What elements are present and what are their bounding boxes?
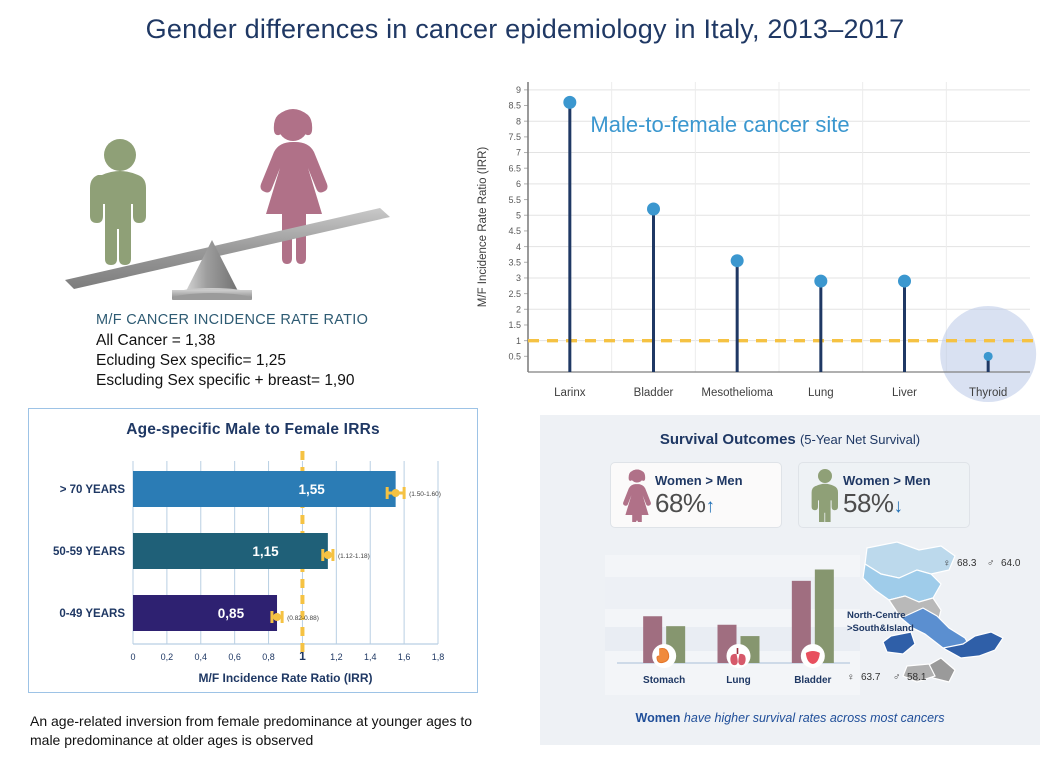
age-chart-x-axis-title: M/F Incidence Rate Ratio (IRR) — [198, 671, 372, 685]
map-region-label-line2: >South&Island — [847, 623, 914, 634]
lollipop-y-tick-label: 6 — [516, 179, 521, 189]
survival-card-women-text: Women > Men 68%↑ — [655, 474, 773, 516]
gender-seesaw-illustration — [60, 90, 410, 300]
infographic-root: Gender differences in cancer epidemiolog… — [0, 0, 1050, 770]
map-north-male-value: 64.0 — [1001, 558, 1021, 569]
lollipop-category-label: Mesothelioma — [701, 387, 773, 399]
survival-card-women[interactable]: Women > Men 68%↑ — [610, 462, 782, 528]
survival-card-women-value: 68% — [655, 488, 706, 518]
lollipop-y-tick-label: 8 — [516, 116, 521, 126]
incidence-stat-excl-sex-specific: Ecluding Sex specific= 1,25 — [96, 351, 486, 371]
incidence-stats-block: M/F CANCER INCIDENCE RATE RATIO All Canc… — [96, 312, 486, 391]
age-bar-ci-label: (1.50-1.60) — [409, 491, 441, 498]
map-north-female-value: 68.3 — [957, 558, 977, 569]
age-chart-x-tick-label: 1,2 — [330, 652, 343, 662]
lollipop-y-tick-label: 0.5 — [508, 352, 521, 362]
age-bar-value-label: 0,85 — [218, 606, 245, 621]
survival-card-women-label: Women > Men — [655, 474, 773, 487]
lollipop-y-tick-label: 6.5 — [508, 163, 521, 173]
lollipop-category-label: Lung — [808, 387, 834, 399]
age-bar-value-label: 1,55 — [298, 482, 325, 497]
italy-map: North-Centre>South&Island♀68.3♂64.0♀63.7… — [845, 540, 1030, 685]
lollipop-y-tick-label: 8.5 — [508, 101, 521, 111]
age-bar-value-label: 1,15 — [252, 544, 279, 559]
survival-card-men-text: Women > Men 58%↓ — [843, 474, 961, 516]
map-south-female-value: 63.7 — [861, 672, 881, 683]
age-bar[interactable] — [133, 471, 396, 507]
map-male-icon-north: ♂ — [987, 558, 995, 569]
age-chart-x-tick-label: 0,6 — [228, 652, 241, 662]
survival-title: Survival Outcomes (5-Year Net Survival) — [540, 431, 1040, 448]
age-bar[interactable] — [133, 533, 328, 569]
lollipop-point[interactable] — [563, 96, 576, 109]
survival-title-sub: (5-Year Net Survival) — [800, 432, 920, 447]
minibar-category-label: Stomach — [643, 675, 685, 686]
lollipop-point[interactable] — [731, 254, 744, 267]
survival-card-men-value: 58% — [843, 488, 894, 518]
age-chart-x-tick-label: 0,8 — [262, 652, 275, 662]
age-chart-x-tick-label: 1,8 — [432, 652, 445, 662]
age-inversion-note: An age-related inversion from female pre… — [30, 712, 500, 750]
lollipop-point[interactable] — [814, 275, 827, 288]
lollipop-point[interactable] — [898, 275, 911, 288]
survival-card-men-label: Women > Men — [843, 474, 961, 487]
lollipop-y-tick-label: 4 — [516, 242, 521, 252]
bladder-icon — [801, 644, 825, 668]
survival-card-men[interactable]: Women > Men 58%↓ — [798, 462, 970, 528]
age-bar-category-label: 50-59 YEARS — [53, 546, 125, 558]
lollipop-y-tick-label: 9 — [516, 85, 521, 95]
survival-footer-note: Women have higher survival rates across … — [540, 711, 1040, 725]
arrow-down-icon: ↓ — [894, 496, 904, 517]
survival-footer-bold: Women — [636, 711, 681, 725]
lollipop-y-axis-title: M/F Incidence Rate Ratio (IRR) — [477, 147, 489, 308]
lollipop-category-label: Bladder — [634, 387, 674, 399]
lungs-icon — [727, 644, 751, 668]
map-region-label-line1: North-Centre — [847, 610, 906, 621]
lollipop-category-label: Thyroid — [969, 387, 1007, 399]
survival-cards: Women > Men 68%↑ Women > Men 58%↓ — [540, 462, 1040, 528]
lollipop-y-tick-label: 2 — [516, 304, 521, 314]
map-south-male-value: 58.1 — [907, 672, 927, 683]
lollipop-category-label: Liver — [892, 387, 917, 399]
lollipop-y-tick-label: 7 — [516, 148, 521, 158]
male-silhouette-icon — [90, 139, 146, 265]
page-title: Gender differences in cancer epidemiolog… — [0, 14, 1050, 45]
lollipop-y-tick-label: 4.5 — [508, 226, 521, 236]
stomach-icon — [652, 644, 676, 668]
age-chart-title: Age-specific Male to Female IRRs — [29, 421, 477, 439]
lollipop-point[interactable] — [984, 352, 993, 361]
age-chart-x-tick-label: 0,4 — [195, 652, 208, 662]
incidence-stats-heading: M/F CANCER INCIDENCE RATE RATIO — [96, 312, 486, 328]
lollipop-headline: Male-to-female cancer site — [590, 112, 849, 137]
age-bar-ci-label: (1.12-1.18) — [338, 553, 370, 560]
age-chart-x-tick-label: 1,4 — [364, 652, 377, 662]
survival-by-site-chart: StomachLungBladder — [605, 555, 860, 695]
lollipop-point[interactable] — [647, 202, 660, 215]
age-bar-category-label: > 70 YEARS — [60, 484, 126, 496]
map-region-sardinia — [883, 632, 915, 654]
survival-lower-row: StomachLungBladder North-Centre>South&Is… — [540, 550, 1040, 710]
survival-outcomes-panel: Survival Outcomes (5-Year Net Survival) … — [540, 415, 1040, 745]
map-male-icon-south: ♂ — [893, 672, 901, 683]
female-figure-icon — [619, 468, 655, 522]
lollipop-y-tick-label: 2.5 — [508, 289, 521, 299]
lollipop-y-tick-label: 1.5 — [508, 320, 521, 330]
lollipop-y-tick-label: 5.5 — [508, 195, 521, 205]
incidence-stat-all-cancer: All Cancer = 1,38 — [96, 331, 486, 351]
age-bar[interactable] — [133, 595, 277, 631]
age-specific-irr-card: Age-specific Male to Female IRRs 00,20,4… — [28, 408, 478, 693]
lollipop-y-tick-label: 7.5 — [508, 132, 521, 142]
map-female-icon-south: ♀ — [847, 672, 855, 683]
map-female-icon-north: ♀ — [943, 558, 951, 569]
survival-footer-rest: have higher survival rates across most c… — [680, 711, 944, 725]
lollipop-y-tick-label: 1 — [516, 336, 521, 346]
lollipop-chart: M/F Incidence Rate Ratio (IRR)0.511.522.… — [470, 72, 1045, 407]
age-bar-category-label: 0-49 YEARS — [59, 608, 125, 620]
age-bar-ci-label: (0.82-0.88) — [287, 615, 319, 622]
arrow-up-icon: ↑ — [706, 496, 716, 517]
age-chart-x-tick-label: 0 — [130, 652, 135, 662]
incidence-stat-excl-sex-specific-breast: Escluding Sex specific + breast= 1,90 — [96, 371, 486, 391]
age-chart-x-tick-label: 0,2 — [161, 652, 174, 662]
survival-title-main: Survival Outcomes — [660, 431, 796, 448]
minibar-category-label: Lung — [726, 675, 750, 686]
lollipop-y-tick-label: 5 — [516, 210, 521, 220]
male-figure-icon — [807, 468, 843, 522]
lollipop-category-label: Larinx — [554, 387, 586, 399]
age-chart-x-tick-label: 1,6 — [398, 652, 411, 662]
minibar-category-label: Bladder — [794, 675, 831, 686]
lollipop-y-tick-label: 3.5 — [508, 257, 521, 267]
lollipop-y-tick-label: 3 — [516, 273, 521, 283]
